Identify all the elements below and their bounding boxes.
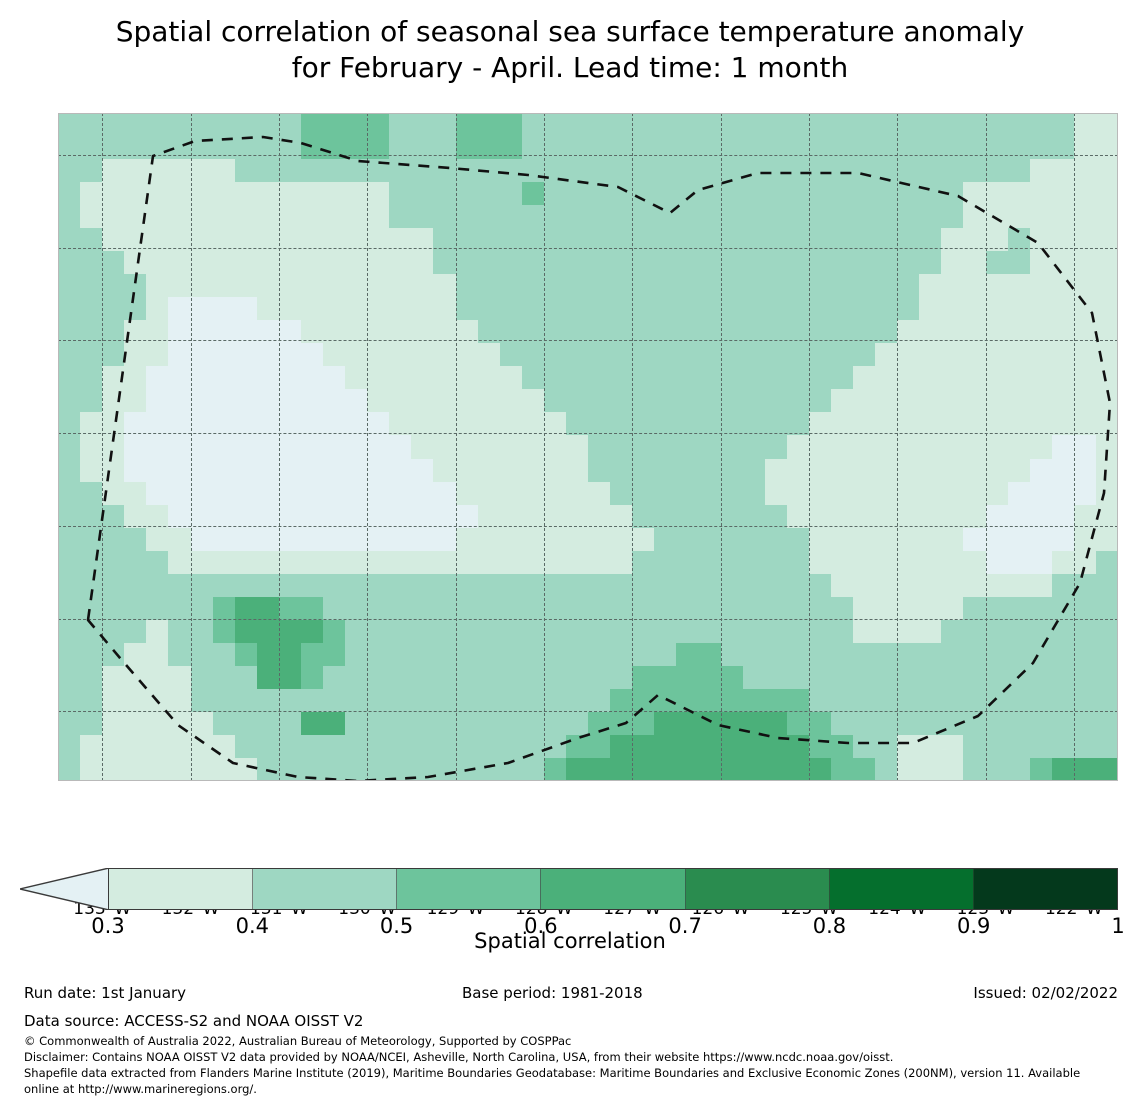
heatmap-cell — [721, 735, 744, 759]
heatmap-cell — [124, 343, 147, 367]
heatmap-cell — [676, 574, 699, 598]
heatmap-cell — [698, 643, 721, 667]
heatmap-cell — [456, 366, 479, 390]
heatmap-cell — [809, 366, 832, 390]
heatmap-cell — [389, 343, 412, 367]
heatmap-cell — [500, 320, 523, 344]
heatmap-cell — [919, 758, 942, 781]
heatmap-cell — [632, 320, 655, 344]
heatmap-cell — [698, 274, 721, 298]
heatmap-cell — [411, 758, 434, 781]
heatmap-cell — [963, 297, 986, 321]
heatmap-cell — [544, 712, 567, 736]
heatmap-cell — [875, 551, 898, 575]
heatmap-cell — [809, 274, 832, 298]
heatmap-cell — [124, 597, 147, 621]
heatmap-cell — [1052, 113, 1075, 137]
heatmap-cell — [102, 412, 125, 436]
heatmap-cell — [986, 113, 1009, 137]
heatmap-cell — [58, 597, 81, 621]
heatmap-cell — [411, 366, 434, 390]
heatmap-cell — [389, 551, 412, 575]
heatmap-cell — [1096, 389, 1118, 413]
heatmap-cell — [257, 228, 280, 252]
heatmap-cell — [1008, 482, 1031, 506]
heatmap-cell — [1074, 528, 1097, 552]
heatmap-cell — [721, 343, 744, 367]
heatmap-cell — [1030, 666, 1053, 690]
heatmap-cell — [279, 113, 302, 137]
heatmap-cell — [963, 343, 986, 367]
heatmap-cell — [588, 205, 611, 229]
heatmap-cell — [963, 459, 986, 483]
heatmap-cell — [146, 412, 169, 436]
heatmap-cell — [279, 435, 302, 459]
heatmap-cell — [146, 205, 169, 229]
heatmap-cell — [809, 551, 832, 575]
heatmap-cell — [456, 274, 479, 298]
heatmap-cell — [522, 320, 545, 344]
heatmap-cell — [235, 643, 258, 667]
heatmap-cell — [213, 228, 236, 252]
heatmap-cell — [787, 366, 810, 390]
run-date: Run date: 1st January — [24, 984, 186, 1002]
heatmap-cell — [809, 459, 832, 483]
heatmap-cell — [986, 712, 1009, 736]
heatmap-cell — [743, 574, 766, 598]
heatmap-cell — [544, 505, 567, 529]
heatmap-cell — [875, 505, 898, 529]
heatmap-cell — [787, 297, 810, 321]
heatmap-cell — [345, 297, 368, 321]
heatmap-cell — [632, 528, 655, 552]
heatmap-cell — [1074, 274, 1097, 298]
heatmap-cell — [323, 159, 346, 183]
heatmap-cell — [544, 274, 567, 298]
heatmap-cell — [787, 136, 810, 160]
heatmap-cell — [654, 389, 677, 413]
heatmap-cell — [765, 297, 788, 321]
heatmap-cell — [58, 689, 81, 713]
heatmap-cell — [301, 343, 324, 367]
heatmap-cell — [588, 597, 611, 621]
heatmap-cell — [257, 274, 280, 298]
heatmap-cell — [610, 551, 633, 575]
heatmap-cell — [102, 182, 125, 206]
heatmap-cell — [1052, 320, 1075, 344]
heatmap-cell — [610, 366, 633, 390]
heatmap-cell — [345, 666, 368, 690]
heatmap-cell — [389, 459, 412, 483]
heatmap-cell — [875, 689, 898, 713]
heatmap-cell — [1008, 574, 1031, 598]
heatmap-cell — [963, 251, 986, 275]
heatmap-cell — [698, 666, 721, 690]
heatmap-cell — [257, 251, 280, 275]
heatmap-cell — [632, 712, 655, 736]
heatmap-cell — [963, 228, 986, 252]
heatmap-cell — [146, 482, 169, 506]
heatmap-cell — [191, 597, 214, 621]
heatmap-cell — [301, 412, 324, 436]
heatmap-cell — [168, 251, 191, 275]
heatmap-cell — [146, 459, 169, 483]
heatmap-cell — [632, 459, 655, 483]
heatmap-cell — [411, 251, 434, 275]
heatmap-cell — [146, 182, 169, 206]
heatmap-cell — [58, 551, 81, 575]
heatmap-cell — [389, 412, 412, 436]
heatmap-cell — [809, 412, 832, 436]
heatmap-cell — [941, 113, 964, 137]
heatmap-cell — [102, 758, 125, 781]
heatmap-cell — [213, 182, 236, 206]
heatmap-cell — [676, 597, 699, 621]
heatmap-cell — [323, 643, 346, 667]
heatmap-cell — [809, 343, 832, 367]
heatmap-cell — [897, 366, 920, 390]
heatmap-cell — [146, 228, 169, 252]
heatmap-cell — [1096, 320, 1118, 344]
heatmap-cell — [124, 251, 147, 275]
heatmap-cell — [765, 412, 788, 436]
heatmap-cell — [1096, 643, 1118, 667]
heatmap-cell — [632, 297, 655, 321]
heatmap-cell — [191, 666, 214, 690]
heatmap-cell — [566, 205, 589, 229]
heatmap-cell — [743, 136, 766, 160]
heatmap-cell — [743, 297, 766, 321]
heatmap-cell — [191, 551, 214, 575]
heatmap-cell — [411, 735, 434, 759]
heatmap-cell — [279, 389, 302, 413]
heatmap-cell — [522, 482, 545, 506]
heatmap-cell — [58, 758, 81, 781]
heatmap-cell — [963, 528, 986, 552]
heatmap-cell — [191, 366, 214, 390]
heatmap-cell — [456, 435, 479, 459]
heatmap-cell — [986, 459, 1009, 483]
heatmap-cell — [897, 735, 920, 759]
heatmap-cell — [1096, 620, 1118, 644]
heatmap-cell — [654, 297, 677, 321]
heatmap-cell — [721, 528, 744, 552]
heatmap-cell — [323, 113, 346, 137]
heatmap-cell — [478, 528, 501, 552]
heatmap-cell — [1052, 712, 1075, 736]
heatmap-cell — [345, 182, 368, 206]
heatmap-cell — [941, 712, 964, 736]
heatmap-cell — [301, 159, 324, 183]
heatmap-cell — [213, 343, 236, 367]
heatmap-cell — [676, 712, 699, 736]
heatmap-cell — [345, 274, 368, 298]
heatmap-cell — [654, 459, 677, 483]
heatmap-cell — [941, 574, 964, 598]
heatmap-cell — [478, 366, 501, 390]
heatmap-cell — [963, 574, 986, 598]
heatmap-cell — [522, 251, 545, 275]
heatmap-cell — [478, 435, 501, 459]
heatmap-cell — [433, 297, 456, 321]
heatmap-cell — [1074, 389, 1097, 413]
heatmap-cell — [566, 320, 589, 344]
heatmap-cell — [235, 689, 258, 713]
heatmap-cell — [213, 689, 236, 713]
heatmap-cell — [698, 412, 721, 436]
heatmap-cell — [676, 343, 699, 367]
heatmap-cell — [411, 320, 434, 344]
heatmap-cell — [213, 758, 236, 781]
heatmap-cell — [1096, 505, 1118, 529]
heatmap-cell — [676, 505, 699, 529]
heatmap-cell — [213, 712, 236, 736]
heatmap-cell — [809, 228, 832, 252]
heatmap-cell — [963, 320, 986, 344]
heatmap-cell — [941, 551, 964, 575]
heatmap-cell — [323, 574, 346, 598]
heatmap-cell — [919, 666, 942, 690]
heatmap-cell — [676, 435, 699, 459]
heatmap-cell — [986, 643, 1009, 667]
heatmap-cell — [765, 228, 788, 252]
heatmap-cell — [1008, 735, 1031, 759]
heatmap-cell — [743, 366, 766, 390]
colorbar-band — [253, 869, 397, 909]
heatmap-cell — [566, 251, 589, 275]
heatmap-cell — [456, 551, 479, 575]
heatmap-cell — [345, 435, 368, 459]
heatmap-cell — [566, 182, 589, 206]
heatmap-cell — [831, 505, 854, 529]
heatmap-cell — [544, 620, 567, 644]
heatmap-cell — [654, 412, 677, 436]
heatmap-cell — [456, 459, 479, 483]
heatmap-cell — [809, 297, 832, 321]
heatmap-cell — [963, 412, 986, 436]
heatmap-cell — [168, 758, 191, 781]
heatmap-cell — [831, 735, 854, 759]
heatmap-cell — [168, 228, 191, 252]
heatmap-cell — [1096, 297, 1118, 321]
heatmap-cell — [787, 620, 810, 644]
heatmap-cell — [676, 459, 699, 483]
heatmap-cell — [1030, 159, 1053, 183]
heatmap-cell — [610, 228, 633, 252]
colorbar-bands — [108, 868, 1118, 910]
heatmap-cell — [500, 574, 523, 598]
legal-disclaimer: © Commonwealth of Australia 2022, Austra… — [24, 1034, 1134, 1097]
heatmap-cell — [456, 735, 479, 759]
heatmap-cell — [875, 643, 898, 667]
heatmap-cell — [522, 459, 545, 483]
heatmap-cell — [544, 205, 567, 229]
heatmap-cell — [235, 597, 258, 621]
heatmap-cell — [721, 412, 744, 436]
heatmap-cell — [831, 366, 854, 390]
heatmap-cell — [80, 297, 103, 321]
heatmap-cell — [433, 320, 456, 344]
heatmap-cell — [588, 459, 611, 483]
heatmap-cell — [853, 297, 876, 321]
heatmap-cell — [168, 366, 191, 390]
heatmap-cell — [411, 482, 434, 506]
heatmap-cell — [1008, 597, 1031, 621]
heatmap-cell — [522, 205, 545, 229]
heatmap-cell — [257, 182, 280, 206]
heatmap-cell — [875, 159, 898, 183]
heatmap-cell — [809, 505, 832, 529]
heatmap-cell — [897, 297, 920, 321]
heatmap-cell — [566, 274, 589, 298]
heatmap-cell — [1096, 689, 1118, 713]
heatmap-cell — [323, 689, 346, 713]
heatmap-cell — [235, 482, 258, 506]
heatmap-cell — [80, 482, 103, 506]
heatmap-cell — [831, 620, 854, 644]
heatmap-cell — [875, 182, 898, 206]
heatmap-cell — [610, 528, 633, 552]
heatmap-cell — [588, 758, 611, 781]
heatmap-cell — [544, 528, 567, 552]
heatmap-cell — [168, 643, 191, 667]
heatmap-cell — [831, 574, 854, 598]
heatmap-cell — [787, 320, 810, 344]
heatmap-cell — [919, 735, 942, 759]
heatmap-cell — [456, 159, 479, 183]
heatmap-cell — [456, 251, 479, 275]
heatmap-cell — [1008, 251, 1031, 275]
heatmap-cell — [743, 643, 766, 667]
heatmap-cell — [1074, 574, 1097, 598]
heatmap-cell — [102, 482, 125, 506]
heatmap-cell — [897, 482, 920, 506]
heatmap-cell — [1030, 182, 1053, 206]
heatmap-cell — [1074, 758, 1097, 781]
heatmap-cell — [191, 712, 214, 736]
heatmap-cell — [610, 182, 633, 206]
heatmap-cell — [478, 412, 501, 436]
heatmap-cell — [389, 251, 412, 275]
heatmap-cell — [676, 551, 699, 575]
heatmap-cell — [213, 459, 236, 483]
heatmap-cell — [743, 113, 766, 137]
heatmap-cell — [478, 735, 501, 759]
heatmap-cell — [698, 366, 721, 390]
heatmap-cell — [787, 758, 810, 781]
heatmap-cell — [389, 228, 412, 252]
heatmap-cell — [323, 712, 346, 736]
heatmap-cell — [367, 366, 390, 390]
heatmap-cell — [897, 251, 920, 275]
heatmap-cell — [124, 459, 147, 483]
colorbar-band — [830, 869, 974, 909]
heatmap-cell — [456, 412, 479, 436]
heatmap-cell — [478, 136, 501, 160]
heatmap-cell — [743, 320, 766, 344]
heatmap-cell — [102, 136, 125, 160]
heatmap-cell — [632, 482, 655, 506]
heatmap-cell — [1030, 274, 1053, 298]
heatmap-cell — [213, 435, 236, 459]
heatmap-cell — [80, 459, 103, 483]
heatmap-cell — [257, 343, 280, 367]
heatmap-cell — [676, 666, 699, 690]
heatmap-cell — [213, 297, 236, 321]
heatmap-cell — [168, 666, 191, 690]
heatmap-cell — [787, 689, 810, 713]
heatmap-cell — [566, 620, 589, 644]
heatmap-cell — [765, 274, 788, 298]
heatmap-cell — [588, 574, 611, 598]
data-source: Data source: ACCESS-S2 and NOAA OISST V2 — [24, 1012, 363, 1030]
heatmap-cell — [213, 251, 236, 275]
heatmap-cell — [1030, 505, 1053, 529]
heatmap-cell — [279, 482, 302, 506]
heatmap-cell — [588, 113, 611, 137]
heatmap-cell — [522, 597, 545, 621]
heatmap-cell — [632, 597, 655, 621]
heatmap-cell — [257, 412, 280, 436]
heatmap-cell — [411, 551, 434, 575]
heatmap-cell — [632, 666, 655, 690]
heatmap-cell — [809, 735, 832, 759]
heatmap-cell — [500, 113, 523, 137]
heatmap-cell — [411, 412, 434, 436]
heatmap-cell — [257, 297, 280, 321]
heatmap-cell — [544, 597, 567, 621]
heatmap-cell — [345, 505, 368, 529]
heatmap-cell — [853, 320, 876, 344]
heatmap-cell — [941, 389, 964, 413]
heatmap-cell — [721, 574, 744, 598]
heatmap-cell — [456, 574, 479, 598]
heatmap-cell — [168, 459, 191, 483]
heatmap-cell — [610, 643, 633, 667]
heatmap-cell — [389, 482, 412, 506]
heatmap-cell — [257, 459, 280, 483]
heatmap-cell — [279, 459, 302, 483]
heatmap-cell — [433, 343, 456, 367]
heatmap-cell — [367, 320, 390, 344]
heatmap-cell — [919, 343, 942, 367]
heatmap-cell — [765, 505, 788, 529]
heatmap-cell — [213, 620, 236, 644]
heatmap-cell — [853, 459, 876, 483]
heatmap-cell — [411, 205, 434, 229]
heatmap-cell — [676, 482, 699, 506]
heatmap-cell — [588, 159, 611, 183]
heatmap-cell — [168, 297, 191, 321]
heatmap-cell — [345, 482, 368, 506]
heatmap-cell — [168, 551, 191, 575]
heatmap-cell — [102, 597, 125, 621]
heatmap-cell — [478, 320, 501, 344]
heatmap-cell — [257, 643, 280, 667]
heatmap-cell — [743, 482, 766, 506]
heatmap-cell — [456, 320, 479, 344]
heatmap-cell — [963, 620, 986, 644]
heatmap-cell — [831, 689, 854, 713]
heatmap-cell — [478, 297, 501, 321]
heatmap-cell — [168, 113, 191, 137]
heatmap-cell — [721, 136, 744, 160]
heatmap-cell — [787, 113, 810, 137]
heatmap-cell — [456, 113, 479, 137]
heatmap-cell — [456, 182, 479, 206]
heatmap-cell — [853, 274, 876, 298]
heatmap-cell — [433, 505, 456, 529]
